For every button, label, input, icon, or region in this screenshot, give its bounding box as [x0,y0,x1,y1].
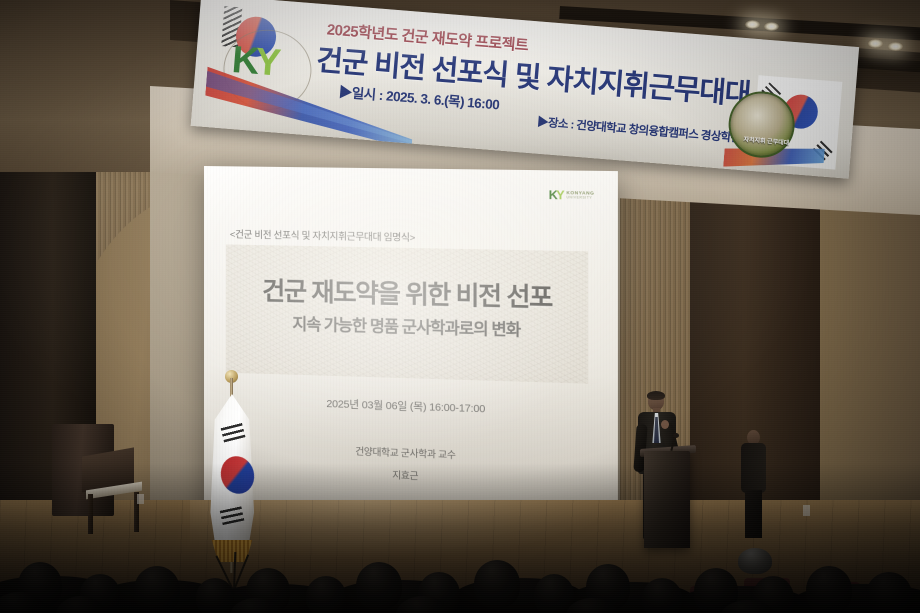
attendee-torso [741,443,766,493]
logo-letter-y: Y [254,41,279,85]
audience-head [196,578,234,613]
slide-ky-logo: KY KONYANG UNIVERSITY [549,189,595,202]
presenter-hair [647,391,665,400]
slide-logo-wordmark: KONYANG UNIVERSITY [566,191,594,200]
presenter-hand [661,420,669,429]
ceiling-light-3 [868,39,883,48]
audience-head [134,566,180,613]
ceiling-light-1 [745,20,760,29]
slide-datetime: 2025년 03월 06일 (목) 16:00-17:00 [234,393,582,420]
banner-emblem-group: 자치지휘 근무대대 [719,73,846,178]
ceiling-light-4 [888,42,903,51]
ceiling-light-2 [764,22,779,31]
audience-head [306,576,346,613]
slide-logo-name-sub: UNIVERSITY [566,196,594,200]
microphone-icon [673,433,679,438]
logo-letters: KY [231,41,279,82]
audience-foreground [0,500,920,613]
auditorium-photo: KY 2025학년도 건군 재도약 프로젝트 건군 비전 선포식 및 자치지휘근… [0,0,920,613]
audience-head [474,560,520,608]
audience-head [642,578,682,613]
slide-eyebrow: <건군 비전 선포식 및 자치지휘근무대대 임명식> [230,226,415,244]
emblem-caption: 자치지휘 근무대대 [737,137,795,149]
audience-head [356,562,402,610]
ky-logo: KY [210,4,330,121]
slide-logo-letters: KY [549,189,563,202]
slide-affiliation: 건양대학교 군사학과 교수 [234,439,582,466]
audience-head-gray-hair [738,548,772,574]
audience-head [806,566,852,613]
audience-head [866,572,912,613]
slide-speaker-name: 지효근 [234,461,582,489]
